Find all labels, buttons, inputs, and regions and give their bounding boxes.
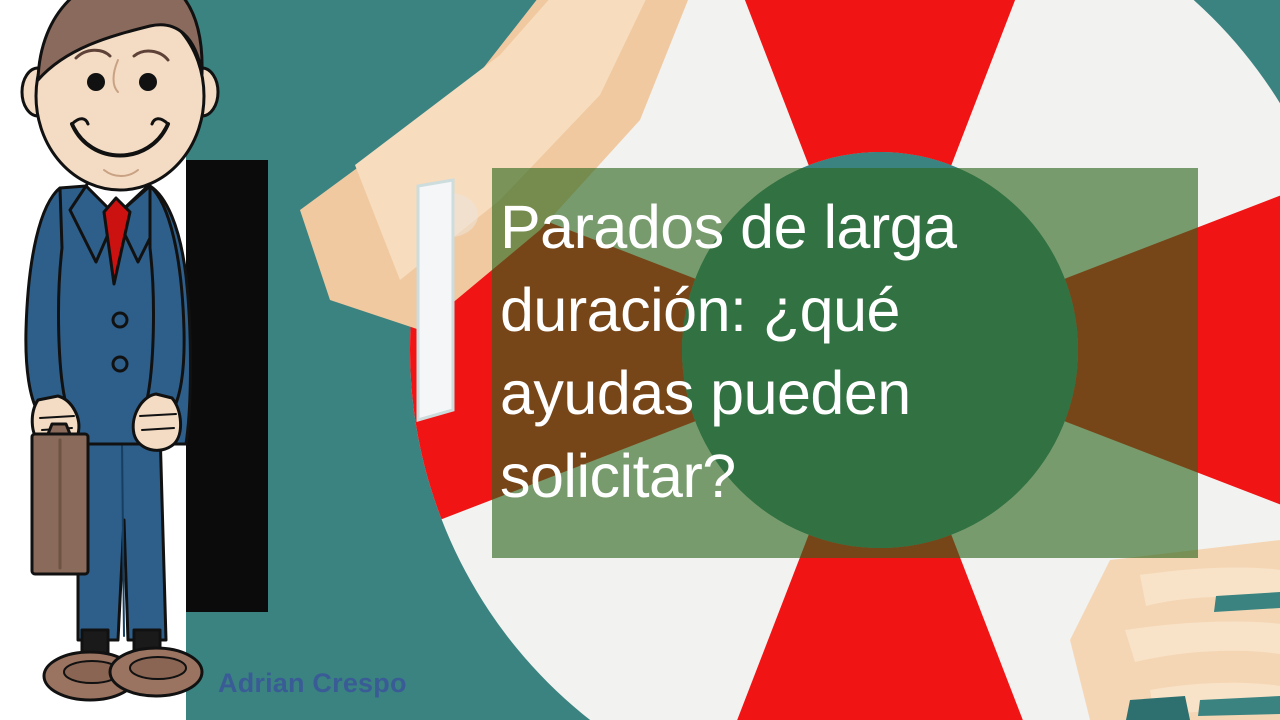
slide-headline: Parados de larga duración: ¿qué ayudas p… (500, 186, 1190, 518)
right-hand (133, 394, 180, 450)
author-byline: Adrian Crespo (218, 668, 407, 699)
jacket-button-bottom (113, 357, 127, 371)
businessman-character-illustration (0, 0, 270, 720)
right-eye (139, 73, 157, 91)
jacket-button-top (113, 313, 127, 327)
white-paper-card (418, 180, 453, 420)
video-thumbnail-slide: Parados de larga duración: ¿qué ayudas p… (0, 0, 1280, 720)
black-board (186, 160, 268, 612)
headline-overlay-panel: Parados de larga duración: ¿qué ayudas p… (492, 168, 1198, 558)
left-eye (87, 73, 105, 91)
left-sock (82, 630, 108, 654)
